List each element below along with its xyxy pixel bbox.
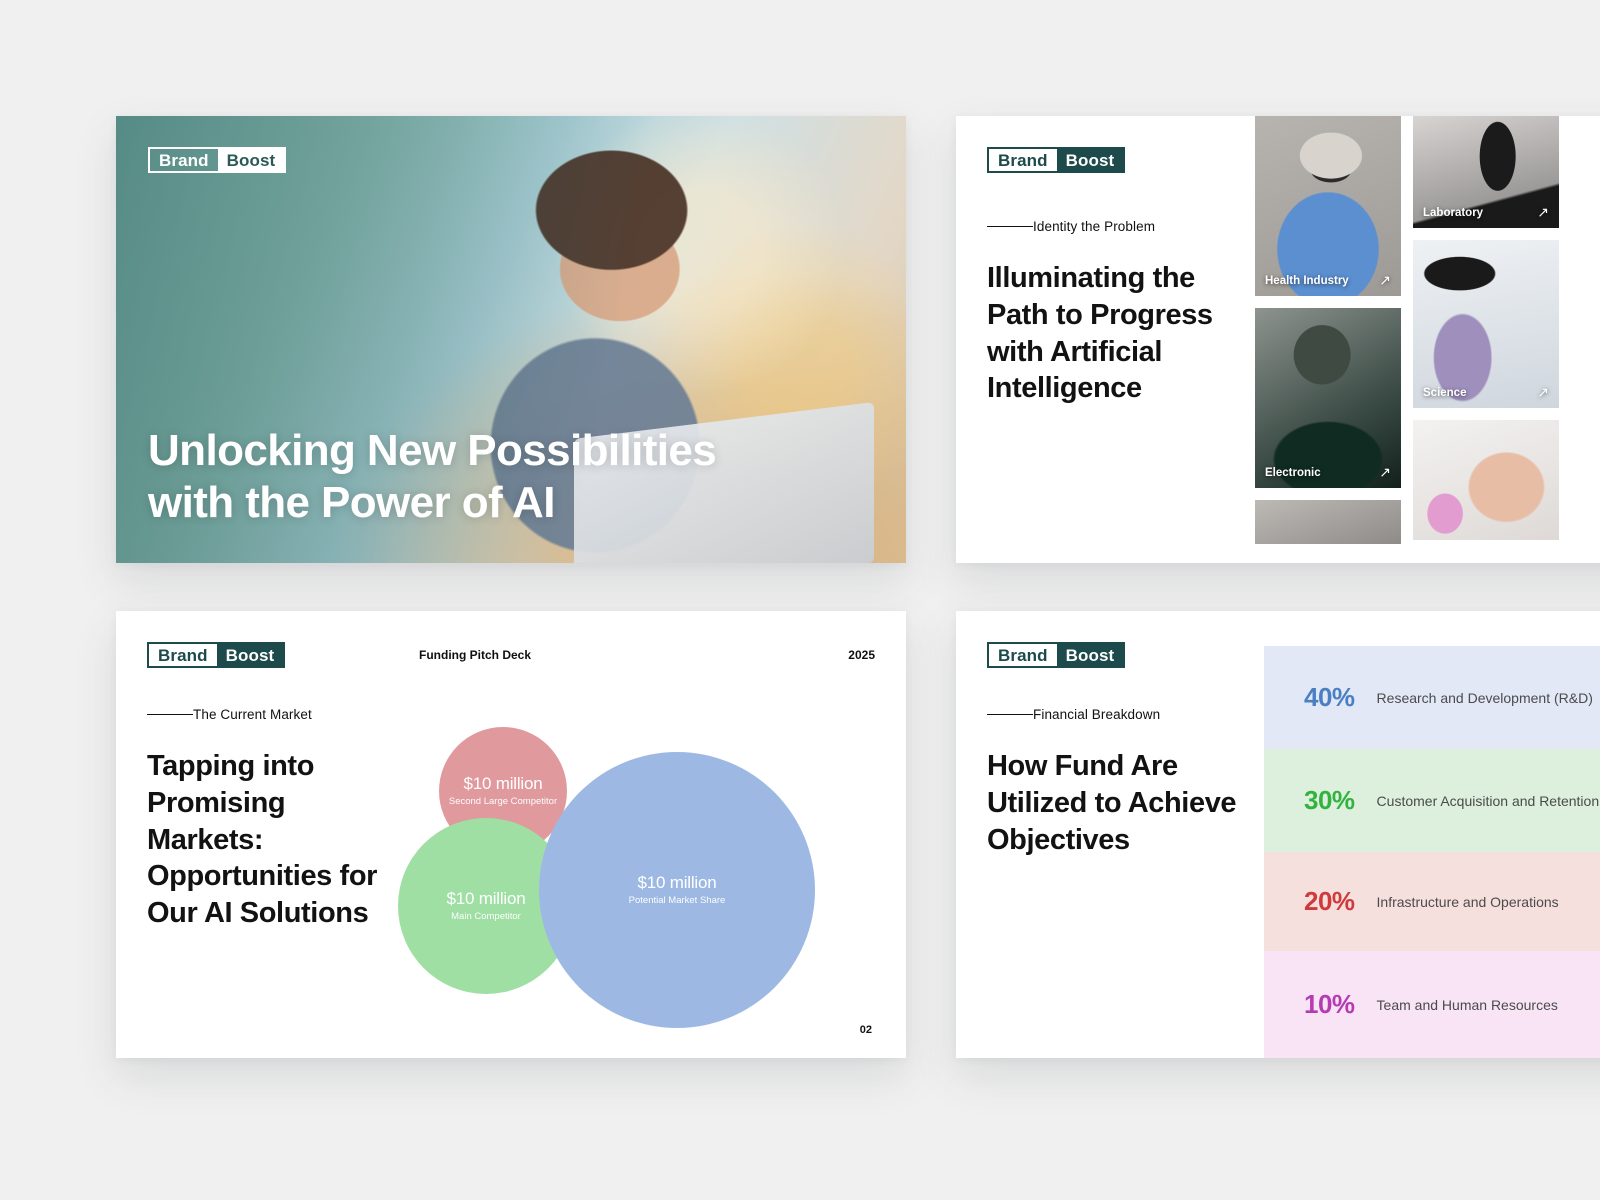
problem-eyebrow-label: Identity the Problem bbox=[1033, 219, 1155, 234]
photo-card-electronic[interactable]: Electronic ↗ bbox=[1255, 308, 1401, 488]
eyebrow-rule bbox=[147, 714, 193, 715]
bubble-label: Main Competitor bbox=[451, 911, 521, 923]
arrow-up-right-icon[interactable]: ↗ bbox=[1537, 205, 1549, 219]
financial-breakdown-chart: 40% Research and Development (R&D) 30% C… bbox=[1264, 646, 1600, 1058]
photo-caption: Science bbox=[1423, 387, 1466, 399]
logo-brand-text: Brand bbox=[989, 149, 1057, 171]
breakdown-label: Research and Development (R&D) bbox=[1377, 690, 1593, 706]
slide-gallery-canvas: Brand Boost Unlocking New Possibilities … bbox=[0, 0, 1600, 1200]
arrow-up-right-icon[interactable]: ↗ bbox=[1537, 385, 1549, 399]
eyebrow-rule bbox=[987, 714, 1033, 715]
market-text-column: The Current Market Tapping into Promisin… bbox=[147, 707, 397, 932]
photo-card-laboratory[interactable]: Laboratory ↗ bbox=[1413, 116, 1559, 228]
market-eyebrow-label: The Current Market bbox=[193, 707, 312, 722]
logo-finance[interactable]: Brand Boost bbox=[987, 642, 1125, 668]
logo-boost-text: Boost bbox=[1057, 644, 1124, 666]
breakdown-band[interactable]: 30% Customer Acquisition and Retention bbox=[1264, 749, 1600, 852]
image-grid-column-left: Health Industry ↗ Electronic ↗ bbox=[1255, 116, 1401, 563]
logo-boost-text: Boost bbox=[217, 644, 284, 666]
slide-hero[interactable]: Brand Boost Unlocking New Possibilities … bbox=[116, 116, 906, 563]
bubble-label: Second Large Competitor bbox=[449, 796, 557, 808]
breakdown-label: Team and Human Resources bbox=[1377, 997, 1558, 1013]
breakdown-label: Customer Acquisition and Retention bbox=[1377, 793, 1600, 809]
logo-brand-text: Brand bbox=[989, 644, 1057, 666]
page-number: 02 bbox=[860, 1024, 872, 1036]
arrow-up-right-icon[interactable]: ↗ bbox=[1379, 465, 1391, 479]
photo-card-science[interactable]: Science ↗ bbox=[1413, 240, 1559, 408]
breakdown-percentage: 10% bbox=[1304, 989, 1355, 1020]
market-topbar: Brand Boost Funding Pitch Deck 2025 bbox=[147, 642, 875, 668]
problem-image-grid: Health Industry ↗ Electronic ↗ Laborator… bbox=[1255, 116, 1600, 563]
photo-caption: Laboratory bbox=[1423, 207, 1483, 219]
breakdown-label: Infrastructure and Operations bbox=[1377, 894, 1559, 910]
finance-eyebrow-label: Financial Breakdown bbox=[1033, 707, 1160, 722]
bubble-label: Potential Market Share bbox=[629, 895, 726, 907]
bubble-amount: $10 million bbox=[463, 774, 542, 794]
photo-caption: Electronic bbox=[1265, 467, 1321, 479]
logo-problem[interactable]: Brand Boost bbox=[987, 147, 1257, 173]
photo-card-partial-bottom-right[interactable] bbox=[1413, 420, 1559, 540]
logo-market[interactable]: Brand Boost bbox=[147, 642, 285, 668]
deck-year: 2025 bbox=[848, 648, 875, 662]
photo-caption: Health Industry bbox=[1265, 275, 1349, 287]
slide-problem[interactable]: Brand Boost Identity the Problem Illumin… bbox=[956, 116, 1600, 563]
slide-finance[interactable]: Brand Boost Financial Breakdown How Fund… bbox=[956, 611, 1600, 1058]
image-grid-column-right: Laboratory ↗ Science ↗ bbox=[1413, 116, 1559, 563]
finance-heading: How Fund Are Utilized to Achieve Objecti… bbox=[987, 748, 1242, 858]
photo-card-health-industry[interactable]: Health Industry ↗ bbox=[1255, 116, 1401, 296]
hero-title: Unlocking New Possibilities with the Pow… bbox=[148, 425, 780, 529]
bubble-amount: $10 million bbox=[446, 889, 525, 909]
finance-eyebrow: Financial Breakdown bbox=[987, 707, 1242, 722]
breakdown-band[interactable]: 20% Infrastructure and Operations bbox=[1264, 852, 1600, 951]
bubble-amount: $10 million bbox=[637, 873, 716, 893]
problem-text-column: Brand Boost Identity the Problem Illumin… bbox=[987, 147, 1257, 407]
eyebrow-rule bbox=[987, 226, 1033, 227]
bubble-chart: $10 million Second Large Competitor $10 … bbox=[398, 701, 878, 1021]
breakdown-band[interactable]: 10% Team and Human Resources bbox=[1264, 951, 1600, 1058]
breakdown-percentage: 40% bbox=[1304, 682, 1355, 713]
slide-market[interactable]: Brand Boost Funding Pitch Deck 2025 The … bbox=[116, 611, 906, 1058]
breakdown-band[interactable]: 40% Research and Development (R&D) bbox=[1264, 646, 1600, 749]
breakdown-percentage: 20% bbox=[1304, 886, 1355, 917]
logo-boost-text: Boost bbox=[1057, 149, 1124, 171]
problem-eyebrow: Identity the Problem bbox=[987, 219, 1257, 234]
market-heading: Tapping into Promising Markets: Opportun… bbox=[147, 748, 397, 932]
finance-text-column: Financial Breakdown How Fund Are Utilize… bbox=[987, 707, 1242, 858]
bubble-potential-market-share[interactable]: $10 million Potential Market Share bbox=[539, 752, 815, 1028]
logo-hero[interactable]: Brand Boost bbox=[148, 147, 286, 173]
market-eyebrow: The Current Market bbox=[147, 707, 397, 722]
breakdown-percentage: 30% bbox=[1304, 785, 1355, 816]
logo-brand-text: Brand bbox=[150, 149, 218, 171]
logo-brand-text: Brand bbox=[149, 644, 217, 666]
deck-label: Funding Pitch Deck bbox=[419, 648, 531, 662]
logo-boost-text: Boost bbox=[218, 149, 285, 171]
problem-heading: Illuminating the Path to Progress with A… bbox=[987, 260, 1257, 407]
arrow-up-right-icon[interactable]: ↗ bbox=[1379, 273, 1391, 287]
photo-card-partial-bottom-left[interactable] bbox=[1255, 500, 1401, 544]
